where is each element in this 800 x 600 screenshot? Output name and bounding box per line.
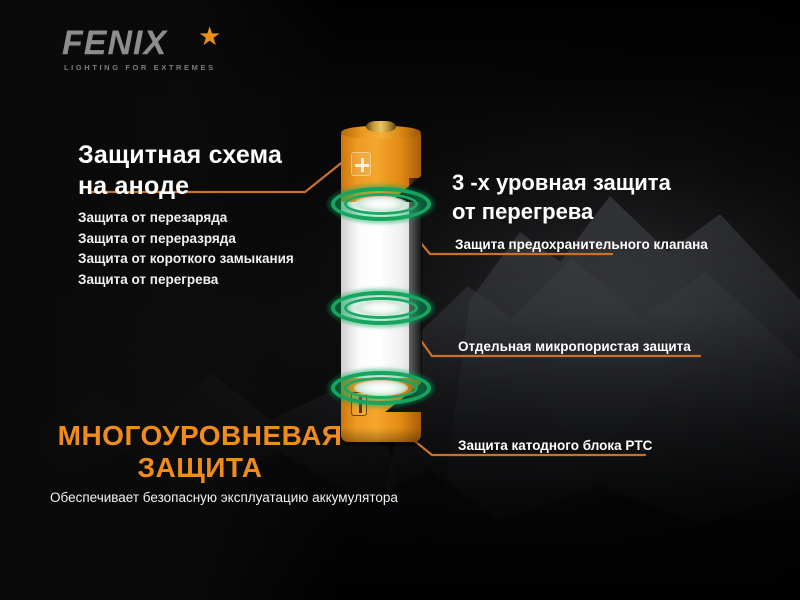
- list-item: Защита от перегрева: [78, 270, 346, 291]
- callout-label-microporous: Отдельная микропористая защита: [458, 339, 691, 354]
- infographic-canvas: ★ FENIX LIGHTING FOR EXTREMES Защитная с…: [0, 0, 800, 600]
- left-feature-list: Защита от перезаряда Защита от переразря…: [78, 208, 346, 290]
- callout-label-ptc: Защита катодного блока PTC: [458, 438, 652, 453]
- right-heading-line-2: от перегрева: [452, 197, 752, 226]
- footer-headline-line-2: ЗАЩИТА: [50, 452, 350, 484]
- left-heading-line-2: на аноде: [78, 171, 348, 202]
- footer-headline-line-1: МНОГОУРОВНЕВАЯ: [50, 420, 350, 452]
- list-item: Защита от перезаряда: [78, 208, 346, 229]
- plus-symbol-icon: [351, 152, 371, 176]
- brand-name: FENIX: [62, 26, 272, 60]
- battery-bottom-gradient: [341, 428, 421, 446]
- protection-ring-bottom: [327, 368, 435, 408]
- right-heading-line-1: 3 -х уровная защита: [452, 168, 752, 197]
- positive-terminal-nub: [366, 121, 396, 132]
- footer-headline: МНОГОУРОВНЕВАЯ ЗАЩИТА: [50, 420, 350, 484]
- protection-ring-middle: [327, 288, 435, 328]
- brand-logo: ★ FENIX LIGHTING FOR EXTREMES: [62, 26, 272, 72]
- left-heading: Защитная схема на аноде: [78, 140, 348, 202]
- left-heading-line-1: Защитная схема: [78, 140, 348, 171]
- list-item: Защита от короткого замыкания: [78, 249, 346, 270]
- brand-tagline: LIGHTING FOR EXTREMES: [64, 63, 272, 72]
- callout-label-valve: Защита предохранительного клапана: [455, 237, 708, 252]
- right-heading: 3 -х уровная защита от перегрева: [452, 168, 752, 226]
- footer-subline: Обеспечивает безопасную эксплуатацию акк…: [50, 490, 470, 505]
- list-item: Защита от переразряда: [78, 229, 346, 250]
